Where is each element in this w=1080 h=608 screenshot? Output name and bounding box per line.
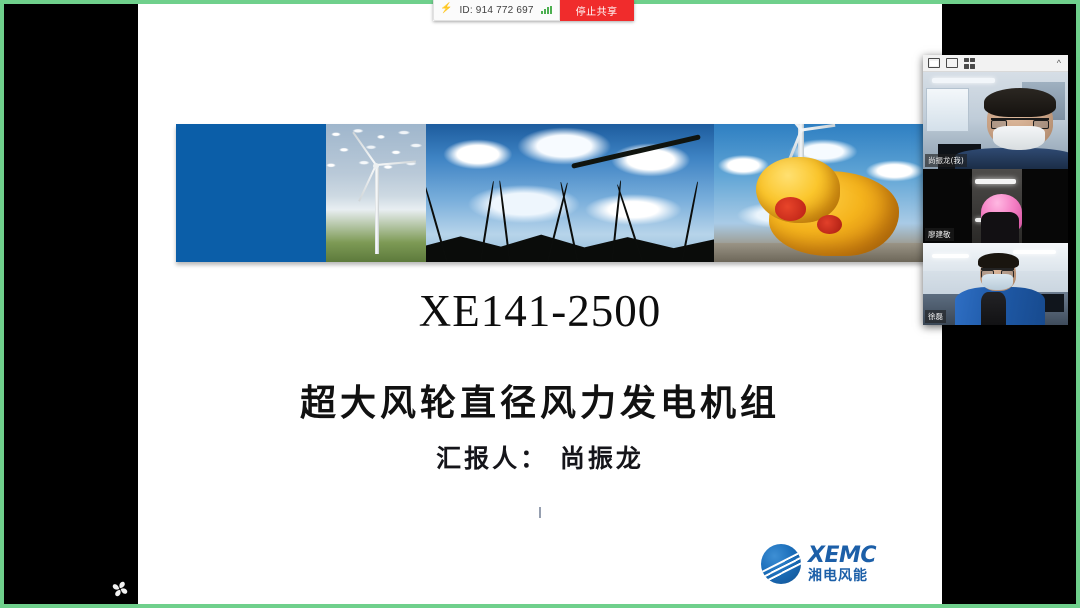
grid-cell bbox=[970, 64, 975, 69]
xemc-logo-text: XEMC 湘电风能 bbox=[808, 545, 876, 583]
person-glasses bbox=[991, 118, 1049, 125]
fluorescent-tube bbox=[975, 179, 1016, 184]
person-silhouette bbox=[981, 212, 1019, 243]
lion-dance-wind-turbine-photo bbox=[714, 124, 924, 262]
text-caret bbox=[539, 507, 541, 518]
meeting-info-group: ⚡ ID: 914 772 697 bbox=[433, 0, 560, 21]
participant-name-label: 徐磊 bbox=[925, 310, 946, 323]
participant-video-panel[interactable]: ^ 尚振龙(我) 廖建敬 bbox=[923, 55, 1068, 325]
minimize-view-icon[interactable] bbox=[928, 58, 940, 68]
ceiling-light bbox=[932, 78, 996, 83]
slide-banner bbox=[176, 124, 924, 262]
collapse-chevron-icon[interactable]: ^ bbox=[1057, 59, 1063, 68]
person-hair bbox=[978, 253, 1019, 269]
shared-slide: XE141-2500 超大风轮直径风力发电机组 汇报人： 尚振龙 XEMC 湘电… bbox=[138, 4, 942, 604]
lion-red-accent bbox=[775, 197, 807, 220]
person-face-mask bbox=[982, 274, 1012, 290]
fan-pinwheel-icon[interactable] bbox=[108, 577, 132, 601]
participant-tile-3[interactable]: 徐磊 bbox=[923, 243, 1068, 325]
meeting-id-label: ID: 914 772 697 bbox=[459, 5, 533, 16]
participant-tile-self[interactable]: 尚振龙(我) bbox=[923, 72, 1068, 169]
screen-share-session: XE141-2500 超大风轮直径风力发电机组 汇报人： 尚振龙 XEMC 湘电… bbox=[0, 0, 1080, 608]
grass-silhouette-cumulus-sky-photo bbox=[426, 124, 714, 262]
signal-bar bbox=[547, 7, 549, 14]
slide-title-cn: 超大风轮直径风力发电机组 bbox=[138, 374, 942, 426]
banner-blue-panel bbox=[176, 124, 326, 262]
person-scarf bbox=[981, 292, 1006, 325]
video-panel-toolbar[interactable]: ^ bbox=[923, 55, 1068, 72]
lightning-bolt-icon: ⚡ bbox=[440, 4, 452, 14]
turbine-hub bbox=[373, 163, 379, 169]
participant-tile-2[interactable]: 廖建敬 bbox=[923, 169, 1068, 243]
slide-presenter: 汇报人： 尚振龙 bbox=[138, 439, 942, 475]
xemc-wordmark: XEMC bbox=[808, 545, 876, 567]
signal-bar bbox=[541, 11, 543, 14]
grid-cell bbox=[970, 58, 975, 63]
slide-title-model: XE141-2500 bbox=[138, 285, 942, 337]
signal-bar bbox=[544, 9, 546, 14]
ceiling-light bbox=[1013, 250, 1057, 254]
grid-cell bbox=[964, 58, 969, 63]
person-hair bbox=[984, 88, 1057, 117]
grid-cell bbox=[964, 64, 969, 69]
signal-bar bbox=[550, 6, 552, 14]
signal-strength-icon bbox=[541, 6, 552, 14]
stop-share-button[interactable]: 停止共享 bbox=[560, 0, 634, 21]
turbine-tower bbox=[375, 168, 379, 254]
person-shoulders bbox=[955, 148, 1068, 169]
ceiling-light bbox=[932, 254, 970, 258]
person-face-mask bbox=[993, 126, 1045, 149]
xemc-logo: XEMC 湘电风能 bbox=[761, 544, 876, 584]
wind-turbine-mackerel-sky-photo bbox=[326, 124, 426, 262]
window bbox=[926, 88, 970, 133]
grass-silhouette bbox=[426, 154, 714, 262]
meeting-control-toolbar[interactable]: ⚡ ID: 914 772 697 停止共享 bbox=[433, 0, 634, 21]
xemc-swoosh-logo-mark bbox=[761, 544, 801, 584]
xemc-wordmark-cn: 湘电风能 bbox=[808, 569, 876, 583]
participant-name-label: 廖建敬 bbox=[925, 228, 954, 241]
gallery-view-icon[interactable] bbox=[964, 58, 975, 69]
single-view-icon[interactable] bbox=[946, 58, 958, 68]
participant-name-label: 尚振龙(我) bbox=[925, 154, 967, 167]
